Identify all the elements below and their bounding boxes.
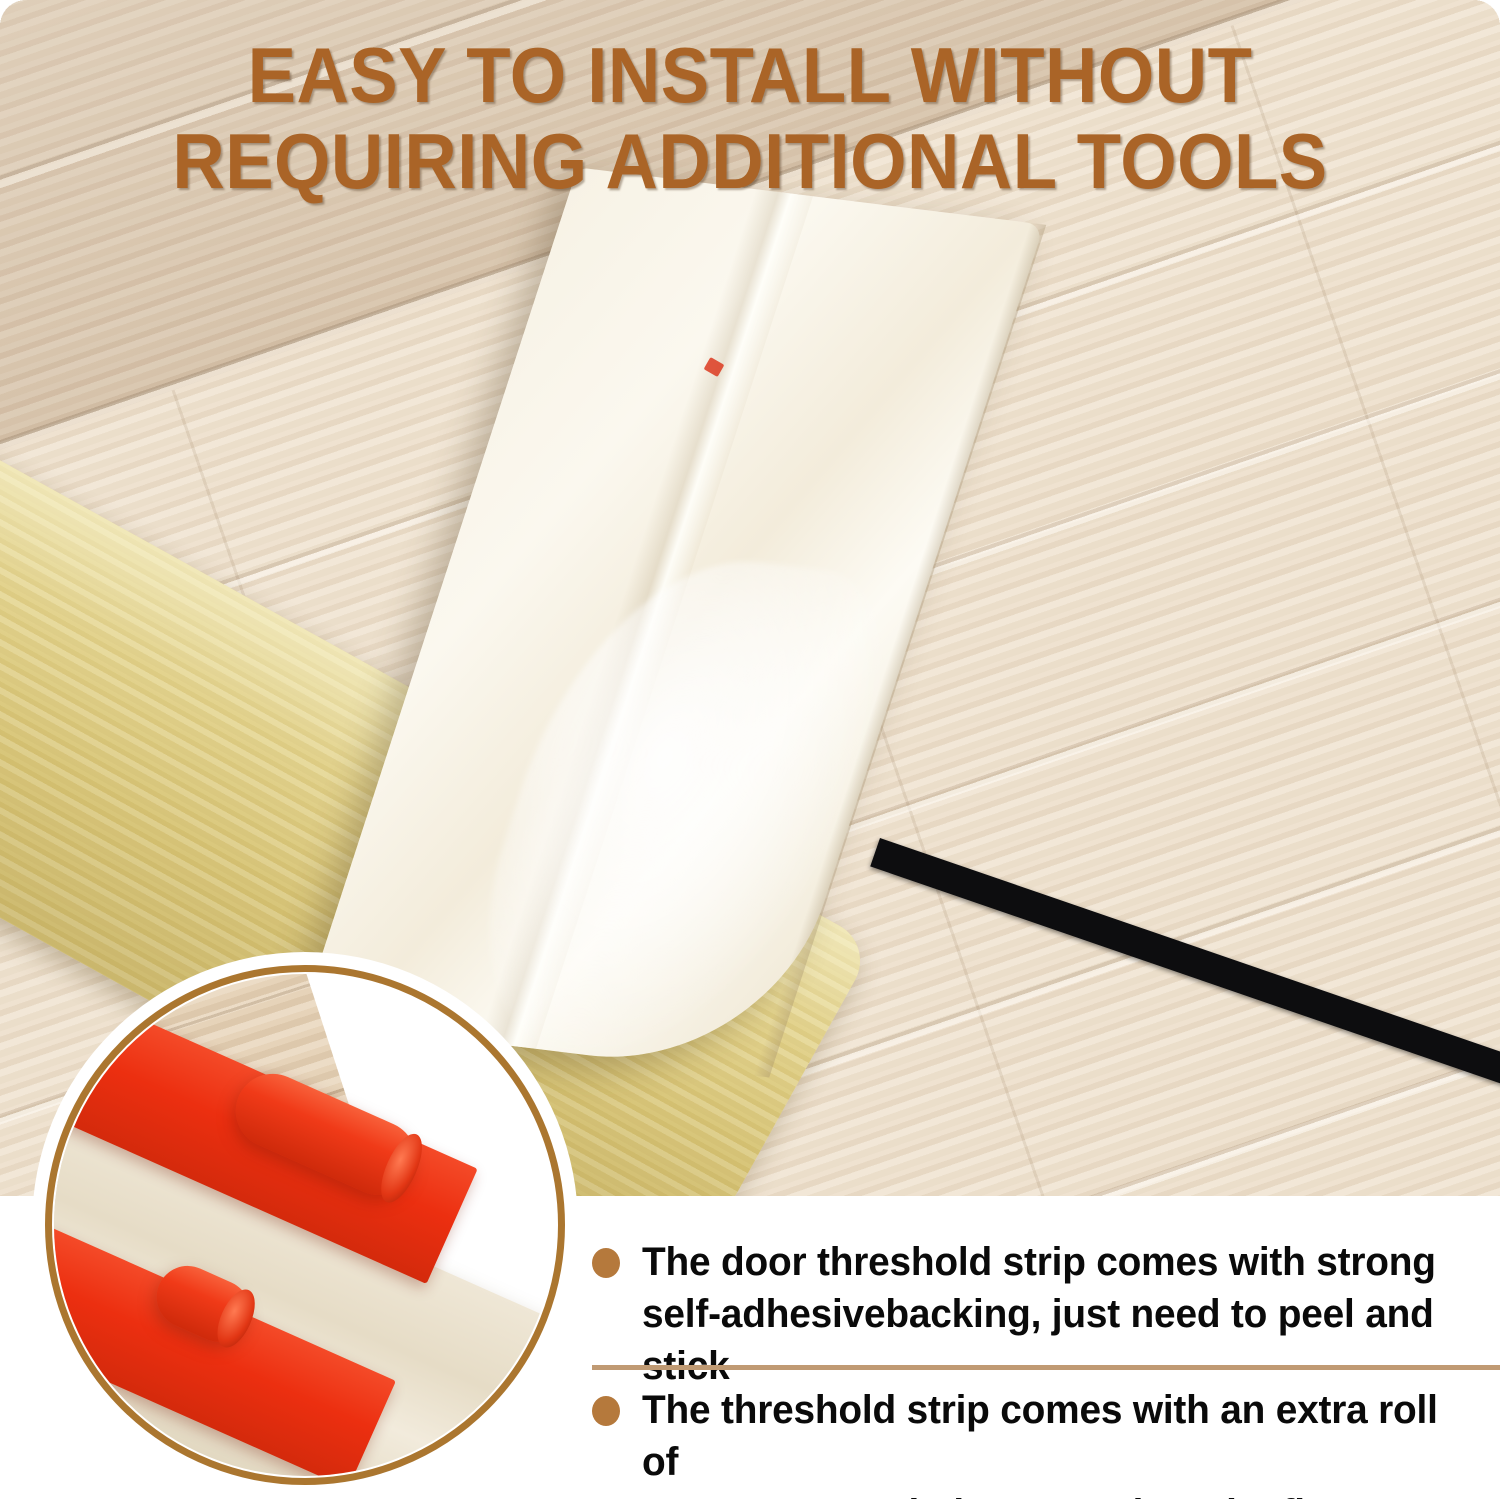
inset-photo-content	[54, 974, 556, 1476]
feature-bullet-2-line-2: strong tape to help secure it to the flo…	[642, 1492, 1367, 1499]
feature-bullet-text-2: The threshold strip comes with an extra …	[642, 1384, 1474, 1499]
feature-bullet-1-line-2: self-adhesivebacking, just need to peel …	[642, 1292, 1434, 1388]
feature-bullet-list: The door threshold strip comes with stro…	[592, 1196, 1500, 1499]
bullet-dot-icon	[592, 1396, 620, 1426]
feature-bullet-1-line-1: The door threshold strip comes with stro…	[642, 1240, 1436, 1284]
bullet-dot-icon	[592, 1248, 620, 1278]
feature-bullet-item-2: The threshold strip comes with an extra …	[592, 1384, 1500, 1499]
product-feature-image: EASY TO INSTALL WITHOUT REQUIRING ADDITI…	[0, 0, 1500, 1499]
photo-corner-top-right	[1474, 0, 1500, 26]
bullet-divider-line	[592, 1365, 1500, 1370]
photo-corner-top-left	[0, 0, 26, 26]
feature-bullet-2-line-1: The threshold strip comes with an extra …	[642, 1388, 1438, 1484]
circular-inset-photo	[45, 965, 565, 1485]
